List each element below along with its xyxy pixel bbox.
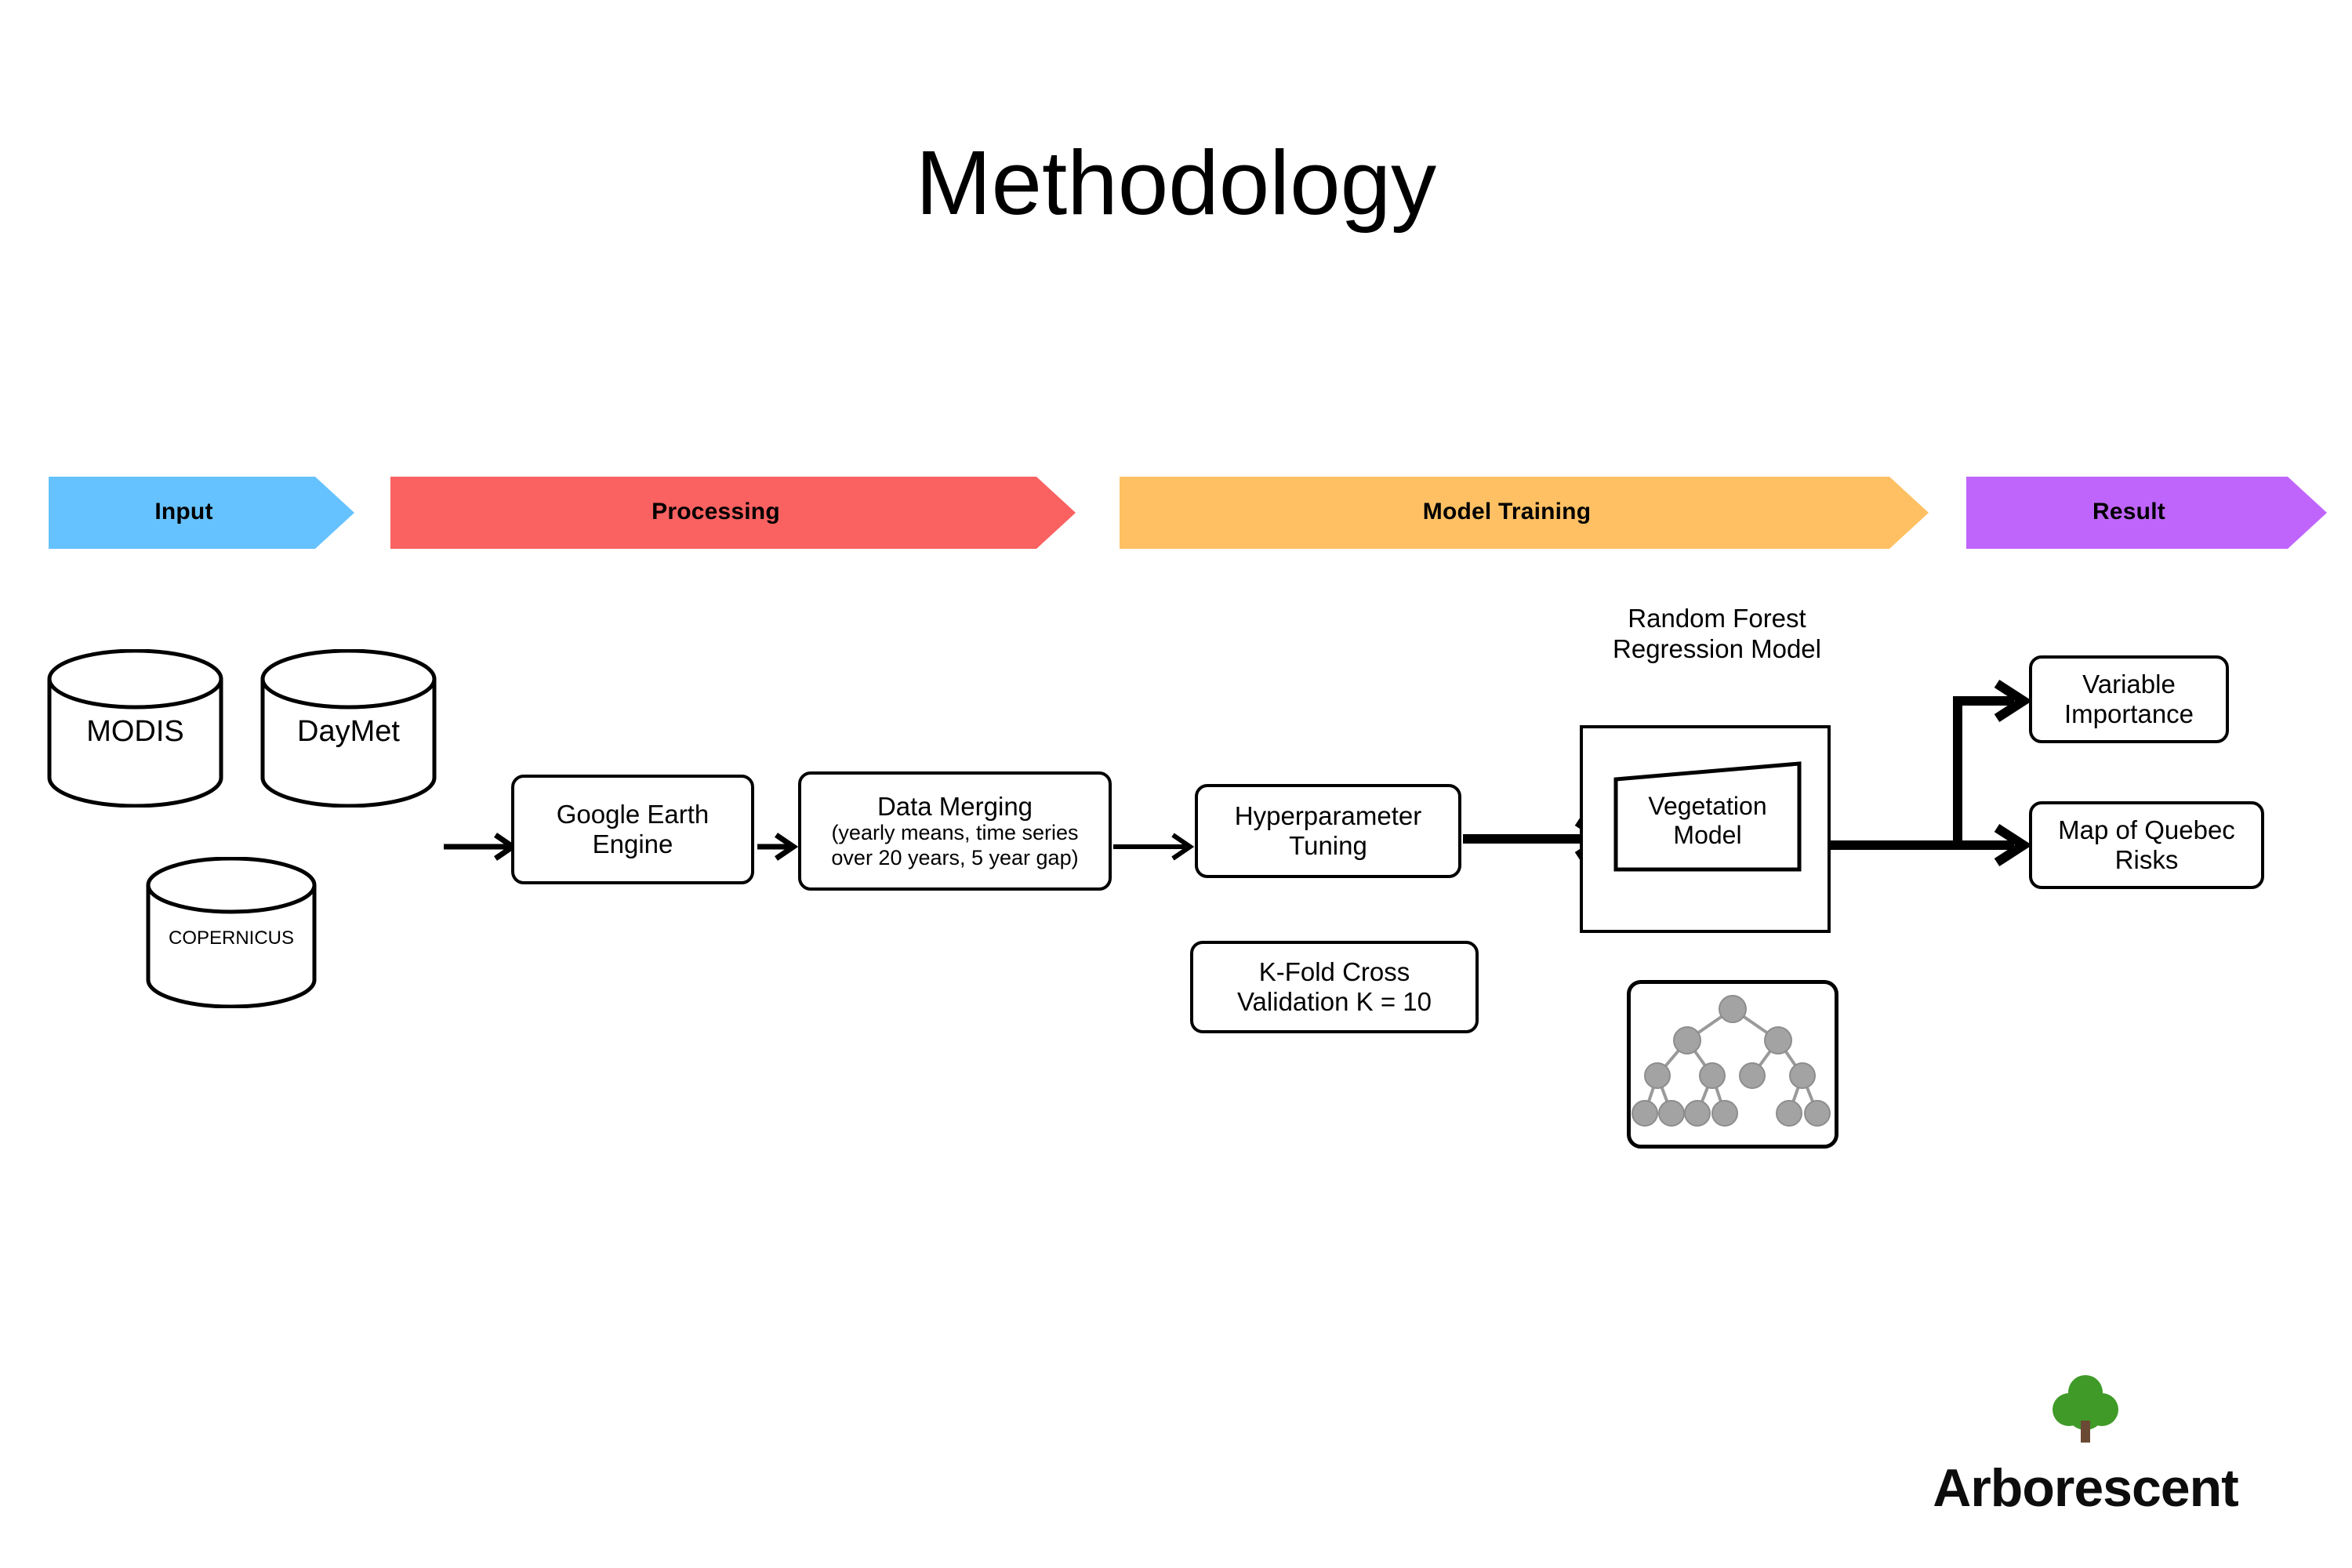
- data-source-modis-label: MODIS: [47, 715, 223, 749]
- hyperparameter-label-line1: Hyperparameter: [1235, 801, 1421, 831]
- data-source-modis: MODIS: [47, 649, 223, 808]
- gee-label-line1: Google Earth: [557, 800, 709, 829]
- arrow-gee-to-merging: [757, 831, 800, 862]
- stage-banner-result-label: Result: [2092, 499, 2165, 525]
- process-box-data-merging: Data Merging (yearly means, time series …: [798, 771, 1112, 891]
- stage-banner-processing-label: Processing: [652, 499, 780, 525]
- result-box-map-of-quebec-risks: Map of Quebec Risks: [2029, 801, 2264, 889]
- hyperparameter-label-line2: Tuning: [1235, 831, 1421, 861]
- stage-banner-model-training: Model Training: [1120, 477, 1929, 549]
- vegetation-model-line1: Vegetation: [1648, 792, 1766, 821]
- slide-canvas: Methodology Input Processing Model Train…: [0, 0, 2352, 1568]
- random-forest-caption-line1: Random Forest: [1560, 604, 1874, 634]
- map-quebec-risks-line1: Map of Quebec: [2058, 815, 2235, 845]
- merging-title: Data Merging: [831, 792, 1078, 822]
- data-source-daymet: DayMet: [260, 649, 437, 808]
- process-box-kfold-cross-validation: K-Fold Cross Validation K = 10: [1190, 941, 1479, 1033]
- merging-detail-line2: over 20 years, 5 year gap): [831, 846, 1078, 870]
- tree-icon: [2050, 1372, 2121, 1450]
- stage-banner-model-training-label: Model Training: [1423, 499, 1591, 525]
- gee-label-line2: Engine: [557, 829, 709, 859]
- stage-banner-processing: Processing: [390, 477, 1076, 549]
- brand-logo: Arborescent: [1882, 1372, 2289, 1515]
- data-source-daymet-label: DayMet: [260, 715, 437, 749]
- result-box-variable-importance: Variable Importance: [2029, 655, 2229, 743]
- data-source-copernicus: COPERNICUS: [146, 857, 317, 1008]
- stage-banner-input: Input: [49, 477, 354, 549]
- map-quebec-risks-line2: Risks: [2058, 845, 2235, 875]
- vegetation-model-shape: Vegetation Model: [1613, 754, 1802, 872]
- arrow-model-to-results: [1831, 674, 2050, 894]
- data-source-copernicus-label: COPERNICUS: [146, 927, 317, 949]
- process-box-google-earth-engine: Google Earth Engine: [511, 775, 754, 884]
- decision-tree-icon: [1631, 984, 1835, 1145]
- random-forest-caption-line2: Regression Model: [1560, 634, 1874, 665]
- page-title: Methodology: [0, 137, 2352, 228]
- kfold-label-line1: K-Fold Cross: [1237, 957, 1432, 987]
- merging-detail-line1: (yearly means, time series: [831, 821, 1078, 845]
- kfold-label-line2: Validation K = 10: [1237, 987, 1432, 1017]
- brand-logo-text: Arborescent: [1882, 1461, 2289, 1515]
- vegetation-model-line2: Model: [1648, 821, 1766, 850]
- random-forest-caption: Random Forest Regression Model: [1560, 604, 1874, 665]
- arrow-merging-to-hyperparameter: [1113, 831, 1196, 862]
- stage-banner-input-label: Input: [154, 499, 212, 525]
- process-box-hyperparameter-tuning: Hyperparameter Tuning: [1195, 784, 1461, 878]
- stage-banner-result: Result: [1966, 477, 2327, 549]
- decision-tree-card: [1627, 980, 1838, 1149]
- variable-importance-line2: Importance: [2064, 699, 2194, 729]
- variable-importance-line1: Variable: [2064, 670, 2194, 699]
- arrow-sources-to-gee: [444, 831, 519, 862]
